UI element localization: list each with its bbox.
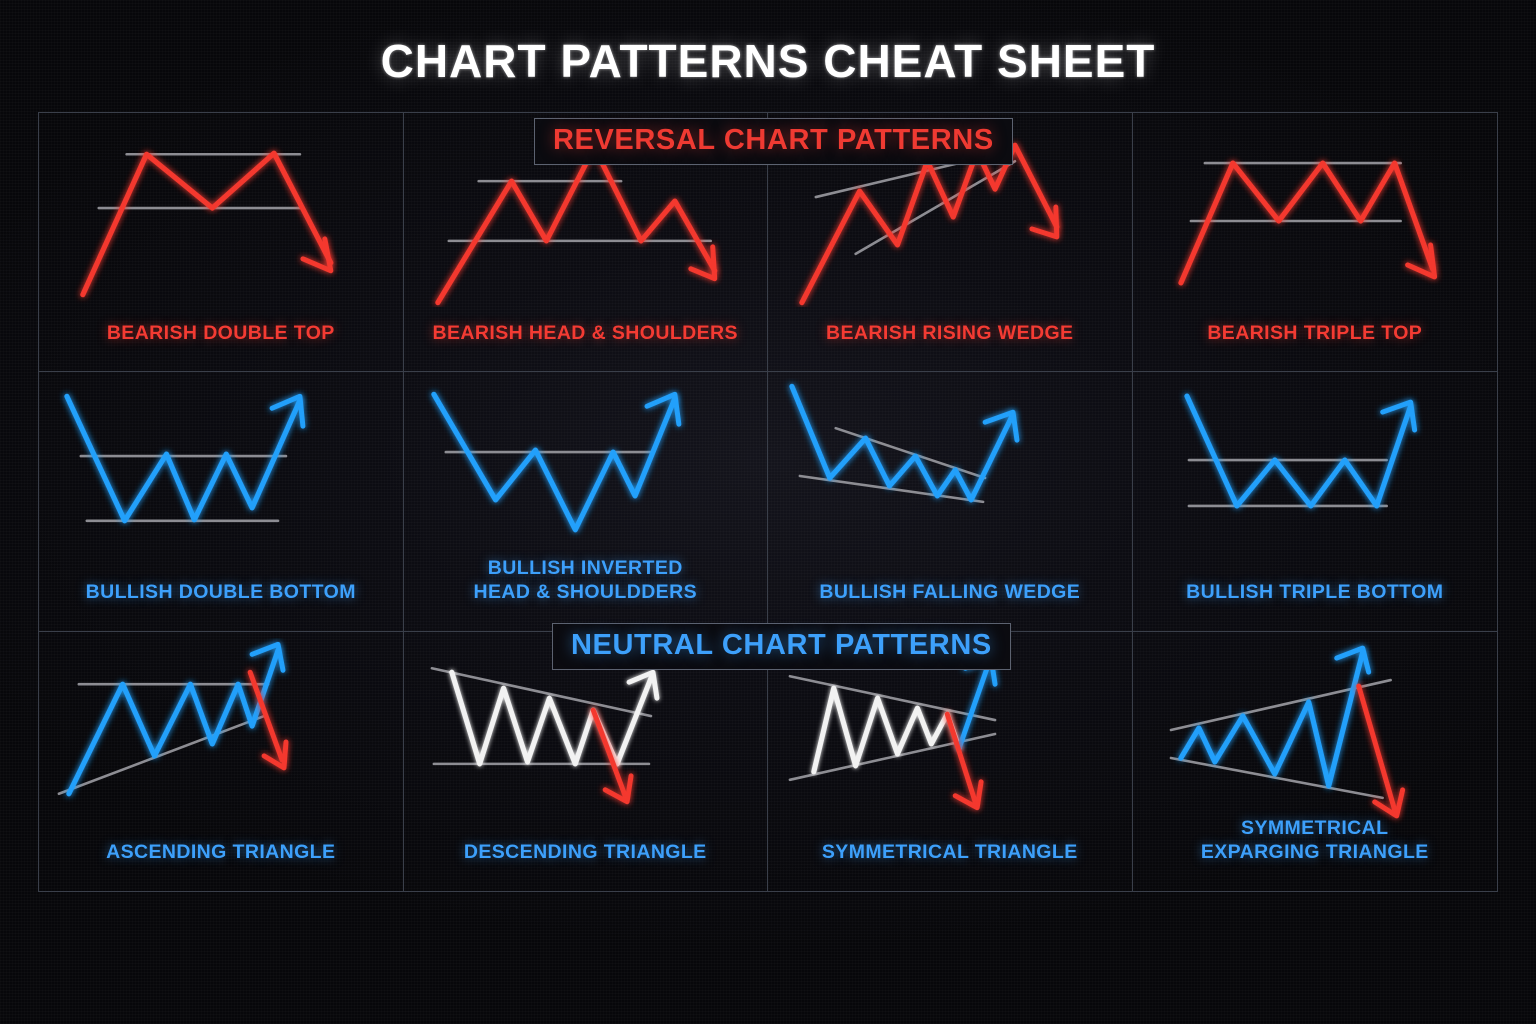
page-title: CHART PATTERNS CHEAT SHEET — [0, 34, 1536, 88]
pattern-label: SYMMETRICAL TRIANGLE — [768, 841, 1132, 865]
pattern-label: BEARISH DOUBLE TOP — [39, 322, 403, 346]
pattern-chart-bullish-triple-bottom — [1133, 378, 1498, 566]
pattern-label: BEARISH RISING WEDGE — [768, 322, 1132, 346]
price-line — [802, 145, 1057, 302]
pattern-chart-ascending-triangle — [39, 638, 403, 826]
pattern-label: BULLISH FALLING WEDGE — [768, 581, 1132, 605]
up-arrow-icon — [1336, 648, 1368, 672]
pattern-card-symmetrical-triangle[interactable]: SYMMETRICAL TRIANGLE — [768, 632, 1133, 891]
price-line — [451, 672, 616, 764]
pattern-label: BEARISH HEAD & SHOULDERS — [404, 322, 768, 346]
up-arrow-icon — [646, 395, 678, 425]
price-line — [67, 397, 300, 521]
pattern-chart-symmetrical-expanding-triangle — [1133, 638, 1498, 826]
down-arrow-icon — [1407, 245, 1434, 277]
pattern-card-bullish-double-bottom[interactable]: BULLISH DOUBLE BOTTOM — [39, 372, 404, 631]
pattern-label: BEARISH TRIPLE TOP — [1133, 322, 1498, 346]
patterns-grid: BEARISH DOUBLE TOP BEARISH HEAD & SHOULD… — [38, 112, 1498, 892]
price-line — [792, 387, 1013, 501]
upper-trendline — [836, 429, 985, 479]
down-arrow-icon — [303, 239, 331, 271]
pattern-chart-bullish-inverted-head-and-shoulders — [404, 378, 768, 566]
up-arrow-icon — [252, 644, 283, 670]
pattern-label: BULLISH INVERTED HEAD & SHOULDDERS — [404, 557, 768, 605]
breakout-line — [617, 678, 651, 764]
pattern-label: BULLISH DOUBLE BOTTOM — [39, 581, 403, 605]
pattern-chart-bearish-double-top — [39, 119, 403, 307]
pattern-card-descending-triangle[interactable]: DESCENDING TRIANGLE — [404, 632, 769, 891]
pattern-card-bearish-double-top[interactable]: BEARISH DOUBLE TOP — [39, 113, 404, 372]
falling-resistance-line — [790, 676, 995, 720]
up-arrow-icon — [272, 397, 303, 427]
price-line — [1180, 163, 1432, 283]
pattern-chart-bearish-triple-top — [1133, 119, 1498, 307]
price-line — [1186, 396, 1410, 506]
pattern-card-bullish-triple-bottom[interactable]: BULLISH TRIPLE BOTTOM — [1133, 372, 1498, 631]
cheat-sheet-page: CHART PATTERNS CHEAT SHEET — [0, 0, 1536, 1024]
pattern-label: BULLISH TRIPLE BOTTOM — [1133, 581, 1498, 605]
pattern-label: ASCENDING TRIANGLE — [39, 841, 403, 865]
pattern-card-bullish-inverted-head-and-shoulders[interactable]: BULLISH INVERTED HEAD & SHOULDDERS — [404, 372, 769, 631]
down-arrow-icon — [947, 714, 975, 802]
pattern-chart-bullish-double-bottom — [39, 378, 403, 566]
down-arrow-icon — [1358, 686, 1394, 810]
pattern-card-symmetrical-expanding-triangle[interactable]: SYMMETRICAL EXPARGING TRIANGLE — [1133, 632, 1498, 891]
pattern-card-bullish-falling-wedge[interactable]: BULLISH FALLING WEDGE — [768, 372, 1133, 631]
pattern-chart-bullish-falling-wedge — [768, 378, 1132, 566]
pattern-label: SYMMETRICAL EXPARGING TRIANGLE — [1133, 817, 1498, 865]
price-line — [437, 147, 714, 302]
section-banner-neutral: NEUTRAL CHART PATTERNS — [552, 623, 1011, 670]
price-line — [433, 395, 674, 530]
section-banner-reversal: REVERSAL CHART PATTERNS — [534, 118, 1013, 165]
price-line — [83, 153, 331, 294]
pattern-label: DESCENDING TRIANGLE — [404, 841, 768, 865]
pattern-card-bearish-triple-top[interactable]: BEARISH TRIPLE TOP — [1133, 113, 1498, 372]
pattern-card-ascending-triangle[interactable]: ASCENDING TRIANGLE — [39, 632, 404, 891]
